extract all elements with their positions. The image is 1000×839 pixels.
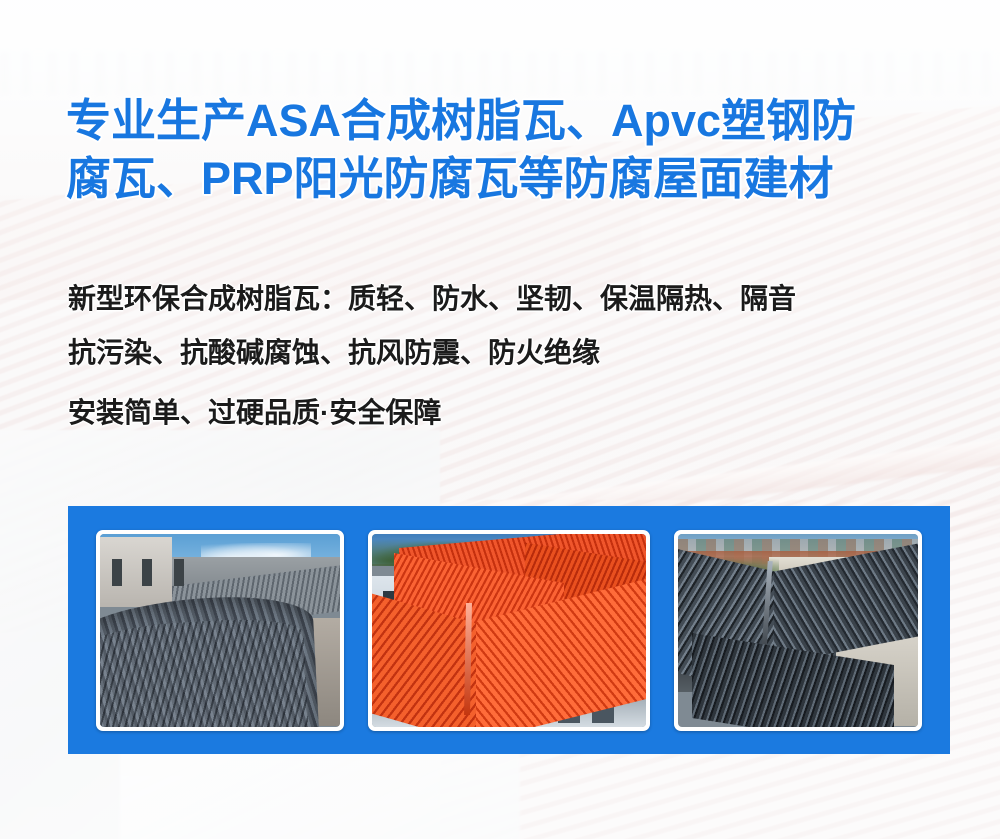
banner-headline: 专业生产ASA合成树脂瓦、Apvc塑钢防 腐瓦、PRP阳光防腐瓦等防腐屋面建材 bbox=[66, 92, 946, 208]
headline-line-2: 腐瓦、PRP阳光防腐瓦等防腐屋面建材 bbox=[66, 150, 946, 208]
photo1-building-left bbox=[100, 537, 172, 606]
photo1-tile-texture bbox=[100, 616, 309, 726]
subcopy-line-3: 安装简单、过硬品质·安全保障 bbox=[68, 386, 948, 440]
subcopy-line-2: 抗污染、抗酸碱腐蚀、抗风防震、防火绝缘 bbox=[68, 326, 948, 380]
grey-resin-tile-roof-photo bbox=[100, 534, 340, 727]
gallery-photo-card-1[interactable] bbox=[96, 530, 344, 731]
product-banner: 专业生产ASA合成树脂瓦、Apvc塑钢防 腐瓦、PRP阳光防腐瓦等防腐屋面建材 … bbox=[0, 0, 1000, 839]
photo-gallery-panel bbox=[68, 506, 950, 754]
gallery-photo-card-3[interactable] bbox=[674, 530, 922, 731]
gallery-photo-card-2[interactable] bbox=[368, 530, 650, 731]
red-resin-tile-roof-photo bbox=[372, 534, 646, 727]
black-resin-tile-roof-photo bbox=[678, 534, 918, 727]
headline-line-1: 专业生产ASA合成树脂瓦、Apvc塑钢防 bbox=[66, 92, 946, 150]
banner-subcopy: 新型环保合成树脂瓦：质轻、防水、坚韧、保温隔热、隔音 抗污染、抗酸碱腐蚀、抗风防… bbox=[68, 272, 948, 440]
photo1-windows bbox=[112, 559, 122, 586]
subcopy-line-1: 新型环保合成树脂瓦：质轻、防水、坚韧、保温隔热、隔音 bbox=[68, 272, 948, 326]
